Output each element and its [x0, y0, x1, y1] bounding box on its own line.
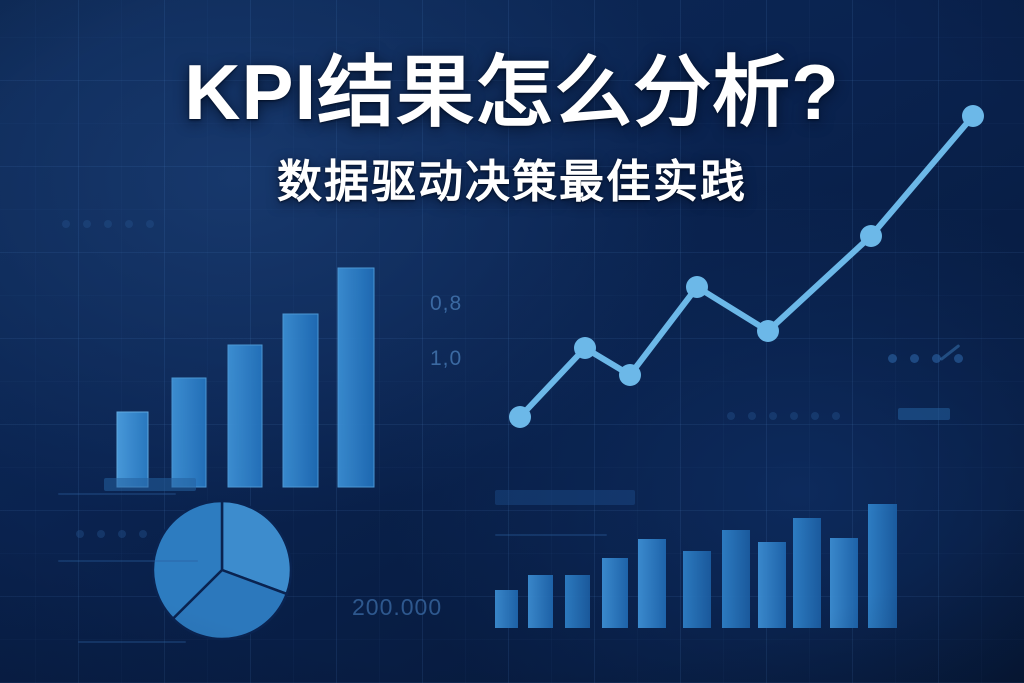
trend-point-4: [686, 276, 708, 298]
trend-point-7: [962, 105, 984, 127]
trend-point-6: [860, 225, 882, 247]
trend-line-chart: [0, 0, 1024, 683]
trend-line-path: [520, 116, 973, 417]
trend-point-1: [509, 406, 531, 428]
trend-point-5: [757, 320, 779, 342]
trend-point-3: [619, 364, 641, 386]
trend-point-group: [509, 105, 984, 428]
infographic-canvas: 0,8 1,0 200.000: [0, 0, 1024, 683]
trend-point-2: [574, 337, 596, 359]
